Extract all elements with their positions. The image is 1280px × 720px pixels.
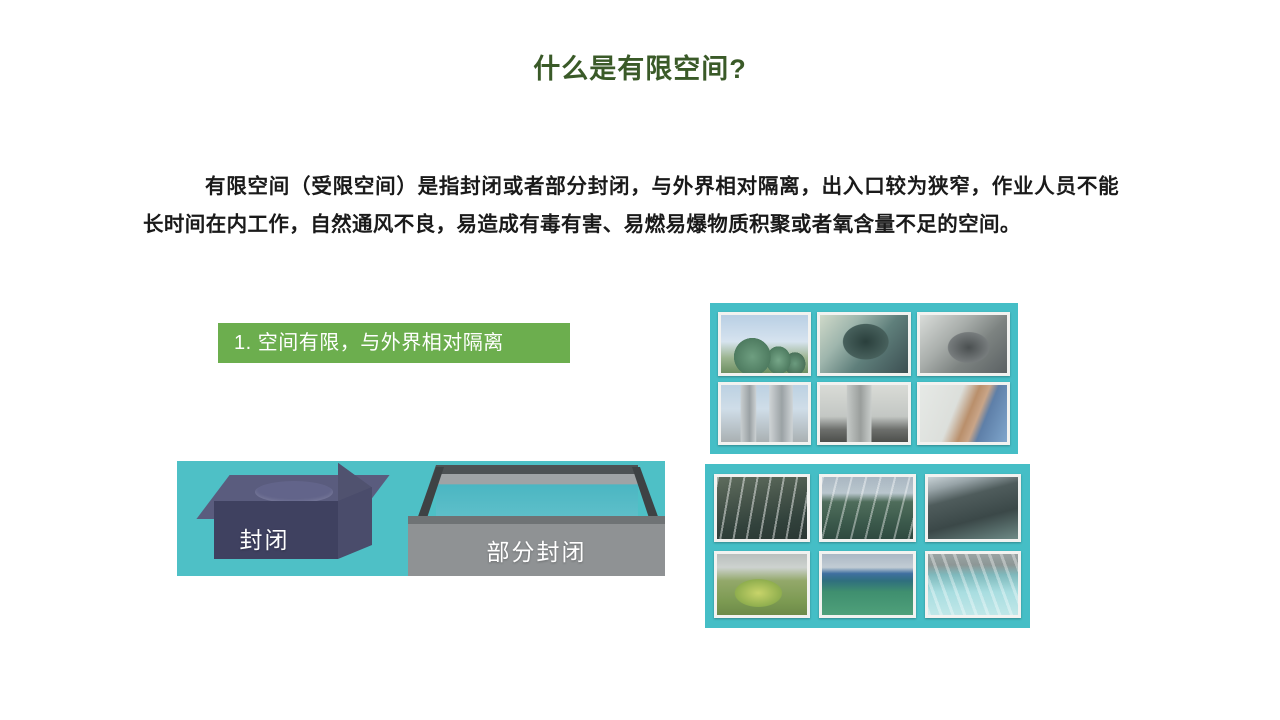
photo-thumbnail <box>817 312 910 376</box>
photo-image-spherical-tanks <box>721 315 808 373</box>
photo-image-large-tank-wall <box>920 385 1007 443</box>
open-box-back-rim <box>436 465 638 474</box>
photo-image-flocculation-basin <box>822 554 912 616</box>
photo-image-algae-oxidation-pond <box>717 554 807 616</box>
photo-image-tank-farm <box>820 385 907 443</box>
photo-thumbnail <box>925 551 1021 619</box>
partially-closed-space-caption: 部分封闭 <box>408 533 665 567</box>
closed-space-caption: 封闭 <box>177 521 380 555</box>
photo-thumbnail <box>819 474 915 542</box>
closed-box-lid-icon <box>255 481 333 503</box>
photo-thumbnail <box>817 382 910 446</box>
photo-thumbnail <box>925 474 1021 542</box>
photo-thumbnail <box>714 474 810 542</box>
pools-and-basins-collage <box>705 464 1030 628</box>
section-heading-chip: 1. 空间有限，与外界相对隔离 <box>218 323 570 363</box>
section-heading-label: 1. 空间有限，与外界相对隔离 <box>234 333 504 353</box>
photo-image-vertical-shaft <box>920 315 1007 373</box>
open-box-front-lip <box>408 516 665 524</box>
photo-image-concrete-water-tank <box>928 477 1018 539</box>
photo-thumbnail <box>714 551 810 619</box>
photo-thumbnail <box>917 312 1010 376</box>
photo-image-sewage-treatment-pool <box>717 477 807 539</box>
illustration-closed-space: 封闭 <box>177 461 408 576</box>
tanks-and-vessels-collage <box>710 303 1018 454</box>
photo-image-vertical-storage-tanks <box>721 385 808 443</box>
photo-image-tank-interior <box>820 315 907 373</box>
photo-thumbnail <box>718 312 811 376</box>
photo-image-open-sedimentation-basin <box>822 477 912 539</box>
photo-thumbnail <box>917 382 1010 446</box>
photo-image-clear-water-reservoir <box>928 554 1018 616</box>
illustration-partially-closed-space: 部分封闭 <box>408 461 665 576</box>
photo-thumbnail <box>819 551 915 619</box>
page-title: 什么是有限空间? <box>0 52 1280 86</box>
photo-thumbnail <box>718 382 811 446</box>
definition-paragraph: 有限空间（受限空间）是指封闭或者部分封闭，与外界相对隔离，出入口较为狭窄，作业人… <box>143 168 1119 244</box>
